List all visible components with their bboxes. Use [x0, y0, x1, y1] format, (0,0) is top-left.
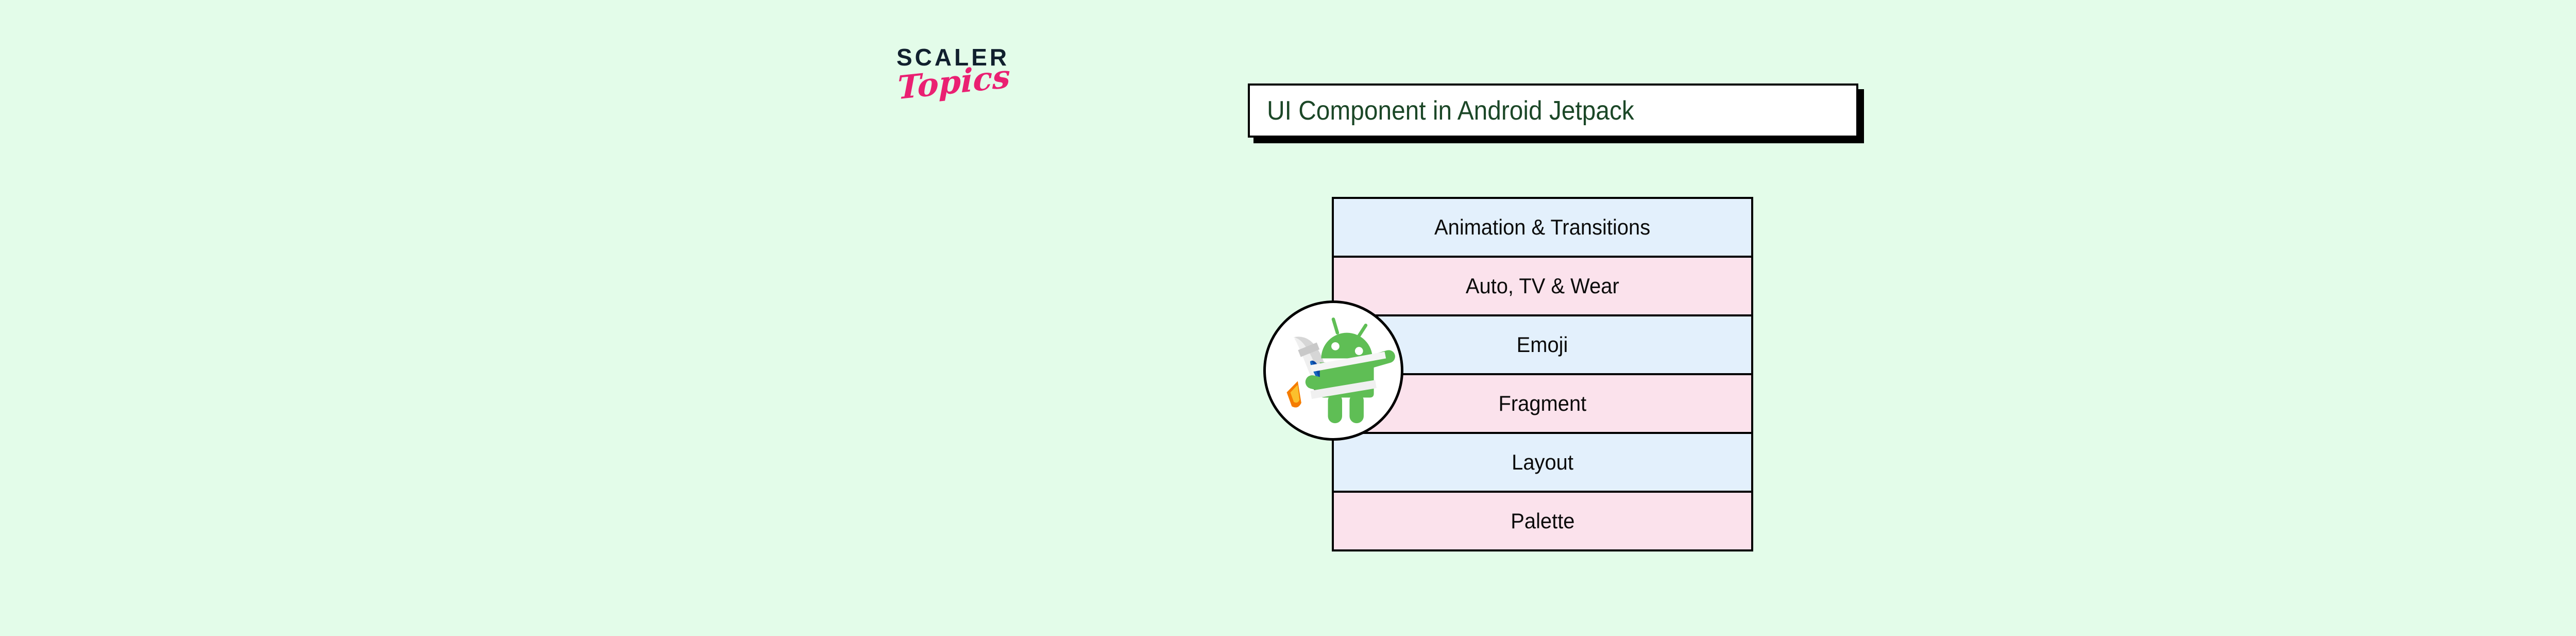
list-item-label: Emoji	[1517, 332, 1568, 357]
title-card: UI Component in Android Jetpack	[1248, 83, 1858, 138]
list-item-label: Layout	[1512, 450, 1573, 475]
list-item-label: Palette	[1511, 509, 1574, 533]
android-robot-rocket-graphic	[1266, 303, 1401, 438]
list-item-label: Auto, TV & Wear	[1466, 274, 1619, 298]
list-item: Palette	[1334, 493, 1751, 549]
scaler-topics-logo: SCALER Topics	[896, 45, 1061, 123]
page-title: UI Component in Android Jetpack	[1250, 95, 1634, 126]
title-card-box: UI Component in Android Jetpack	[1248, 83, 1858, 138]
list-item: Layout	[1334, 434, 1751, 493]
list-item: Auto, TV & Wear	[1334, 258, 1751, 316]
list-item-label: Fragment	[1499, 391, 1587, 416]
android-jetpack-icon	[1263, 300, 1403, 441]
list-item: Animation & Transitions	[1334, 199, 1751, 258]
list-item-label: Animation & Transitions	[1434, 215, 1650, 240]
